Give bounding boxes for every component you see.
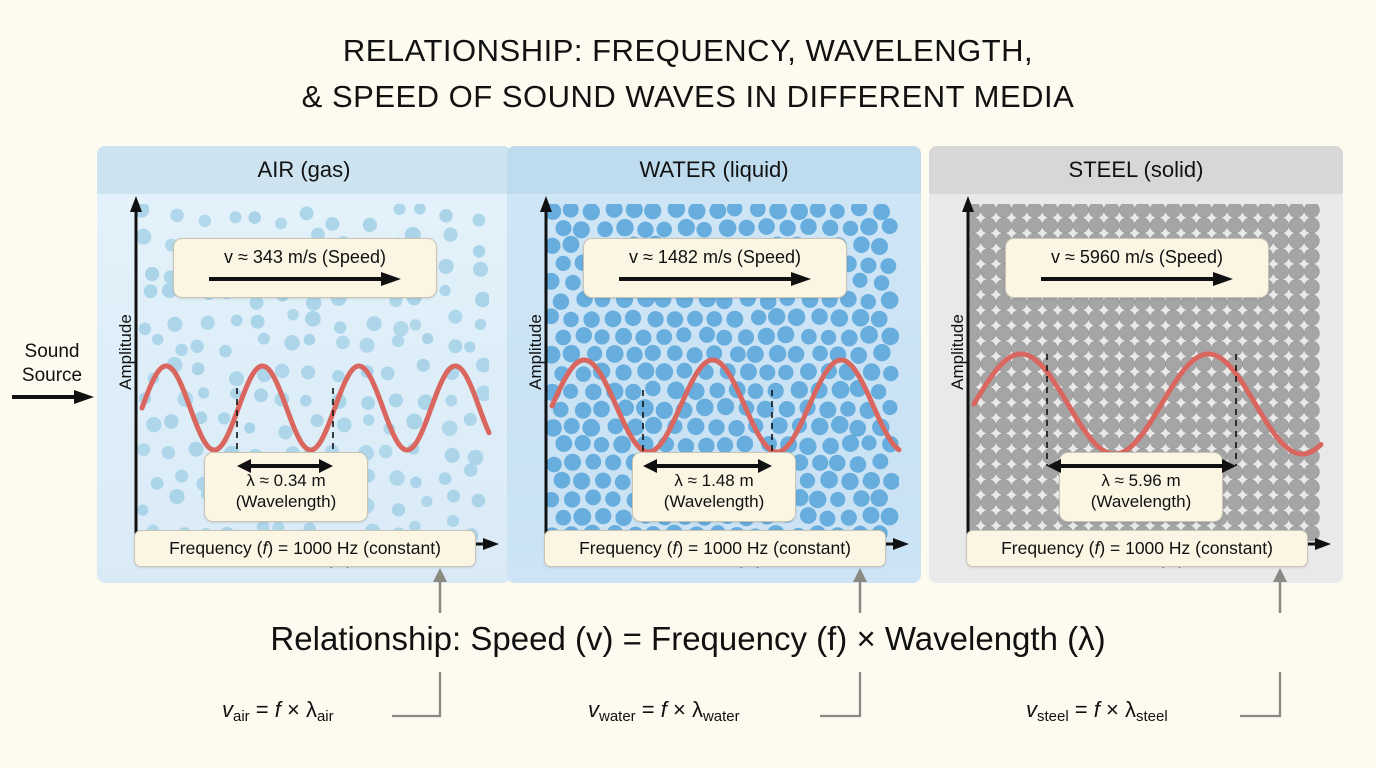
panel-air-header: AIR (gas)	[97, 146, 511, 194]
subformula-water: vwater = f × λwater	[588, 697, 740, 725]
diagram-canvas: RELATIONSHIP: FREQUENCY, WAVELENGTH, & S…	[0, 0, 1376, 768]
subformula-air: vair = f × λair	[222, 697, 334, 725]
panel-steel: STEEL (solid) Amplitude Distance (m) v ≈…	[929, 146, 1343, 583]
panel-water: WATER (liquid) Amplitude Distance (m) v …	[507, 146, 921, 583]
water-wavelength-arrow-icon	[507, 194, 921, 583]
steel-wavelength-arrow-icon	[929, 194, 1343, 583]
water-frequency-callout: Frequency (f) = 1000 Hz (constant)	[544, 530, 886, 567]
water-frequency-text: Frequency (f) = 1000 Hz (constant)	[579, 538, 851, 558]
air-wavelength-arrow-icon	[97, 194, 511, 583]
air-frequency-text: Frequency (f) = 1000 Hz (constant)	[169, 538, 441, 558]
page-title: RELATIONSHIP: FREQUENCY, WAVELENGTH, & S…	[0, 28, 1376, 120]
air-frequency-callout: Frequency (f) = 1000 Hz (constant)	[134, 530, 476, 567]
sound-source-label: Sound Source	[6, 340, 98, 388]
panel-water-header: WATER (liquid)	[507, 146, 921, 194]
steel-frequency-text: Frequency (f) = 1000 Hz (constant)	[1001, 538, 1273, 558]
panel-air: AIR (gas) Amplitude Distance (m) v ≈ 343…	[97, 146, 511, 583]
steel-frequency-callout: Frequency (f) = 1000 Hz (constant)	[966, 530, 1308, 567]
relationship-formula: Relationship: Speed (v) = Frequency (f) …	[0, 620, 1376, 658]
panel-water-plot: Amplitude Distance (m) v ≈ 1482 m/s (Spe…	[507, 194, 921, 583]
subformula-steel: vsteel = f × λsteel	[1026, 697, 1168, 725]
panel-air-plot: Amplitude Distance (m) v ≈ 343 m/s (Spee…	[97, 194, 511, 583]
sound-source-arrow-icon	[12, 390, 94, 404]
panel-steel-header: STEEL (solid)	[929, 146, 1343, 194]
panel-steel-plot: Amplitude Distance (m) v ≈ 5960 m/s (Spe…	[929, 194, 1343, 583]
